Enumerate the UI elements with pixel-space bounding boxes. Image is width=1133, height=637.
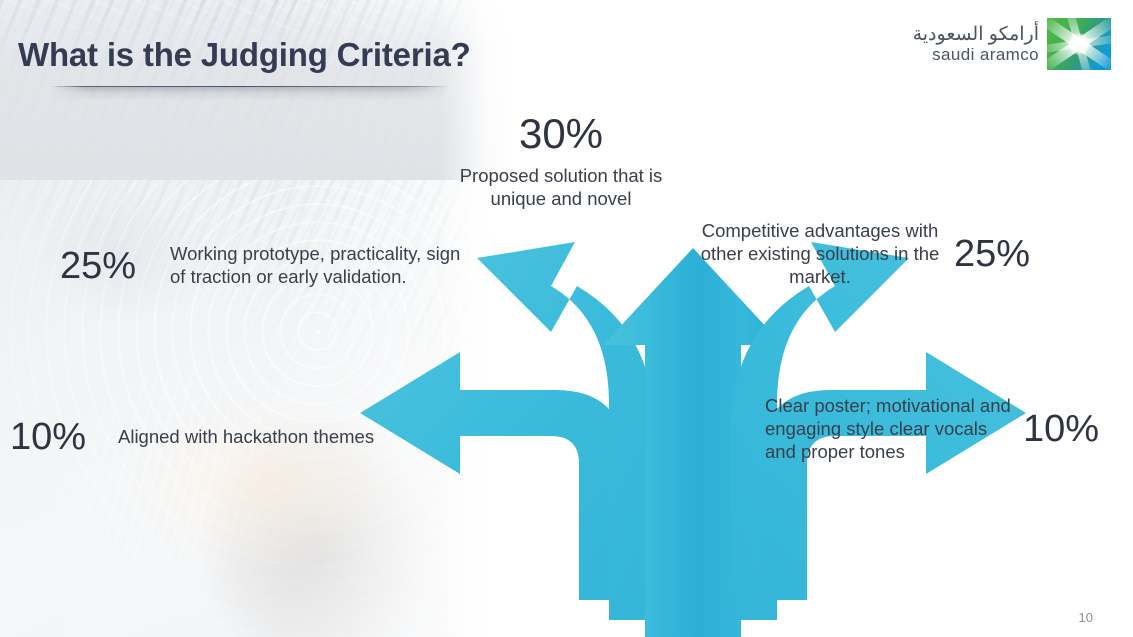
slide-canvas: What is the Judging Criteria? أرامكو الس… xyxy=(0,0,1133,637)
criterion-working-prototype: 25% Working prototype, practicality, sig… xyxy=(60,243,480,289)
arrow-left-horizontal xyxy=(360,352,625,600)
criterion-description: Competitive advantages with other existi… xyxy=(700,220,940,289)
criterion-percent: 10% xyxy=(10,418,110,456)
logo-arabic-text: أرامكو السعودية xyxy=(913,25,1039,45)
aramco-starburst-icon xyxy=(1047,18,1111,70)
criterion-description: Clear poster; motivational and engaging … xyxy=(765,395,1013,464)
criterion-percent: 10% xyxy=(1023,410,1099,448)
criterion-percent: 30% xyxy=(436,113,686,155)
criterion-description: Proposed solution that is unique and nov… xyxy=(436,165,686,211)
title-divider-shadow xyxy=(50,87,450,101)
criterion-description: Working prototype, practicality, sign of… xyxy=(170,243,475,289)
criterion-hackathon-themes: 10% Aligned with hackathon themes xyxy=(10,418,410,456)
page-title: What is the Judging Criteria? xyxy=(18,36,471,74)
saudi-aramco-logo: أرامكو السعودية saudi aramco xyxy=(913,18,1111,70)
title-divider xyxy=(50,86,450,87)
starburst-core xyxy=(1068,33,1090,55)
criterion-clear-poster: Clear poster; motivational and engaging … xyxy=(765,395,1130,464)
logo-latin-text: saudi aramco xyxy=(913,46,1039,64)
criterion-percent: 25% xyxy=(60,247,160,285)
criterion-description: Aligned with hackathon themes xyxy=(118,426,388,449)
slide-page-number: 10 xyxy=(1079,610,1093,625)
criterion-percent: 25% xyxy=(954,235,1030,273)
logo-wordmark: أرامكو السعودية saudi aramco xyxy=(913,25,1039,64)
criterion-competitive-advantages: Competitive advantages with other existi… xyxy=(700,220,1120,289)
arrow-right-horizontal xyxy=(761,352,1026,600)
criterion-unique-novel: 30% Proposed solution that is unique and… xyxy=(436,113,686,211)
